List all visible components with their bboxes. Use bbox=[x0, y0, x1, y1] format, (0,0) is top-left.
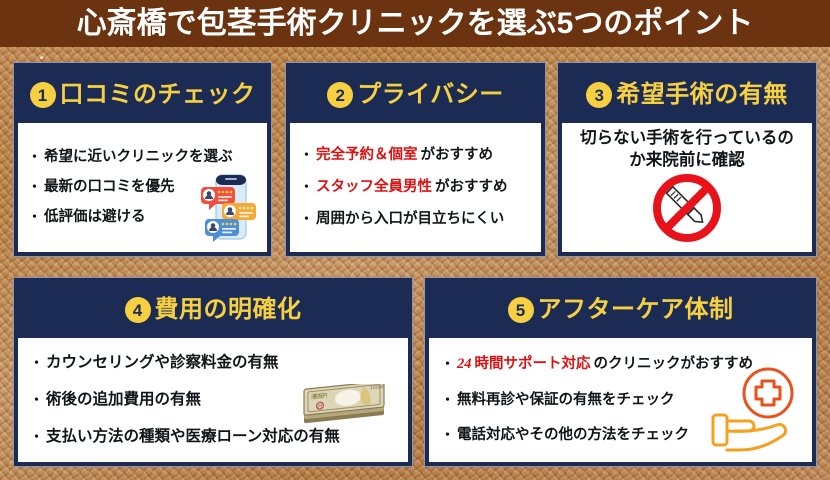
card-5-bullet-list: ・24時間サポート対応のクリニックがおすすめ ・無料再診や保証の有無をチェック … bbox=[429, 338, 812, 462]
bullet-marker: ・ bbox=[300, 180, 313, 193]
bullet-text: 周囲から入口が目立ちにくい bbox=[316, 211, 504, 228]
header-bar: 心斎橋で包茎手術クリニックを選ぶ5つのポイント bbox=[0, 0, 830, 47]
point-card-2: 2 プライバシー ・完全予約＆個室がおすすめ ・スタッフ全員男性がおすすめ ・周… bbox=[285, 62, 546, 257]
card-3-paragraph: 切らない手術を行っているのか来院前に確認 bbox=[562, 123, 812, 172]
bullet-text: 術後の追加費用の有無 bbox=[46, 391, 201, 409]
bullet-text: がおすすめ bbox=[435, 179, 508, 196]
list-item: ・スタッフ全員男性がおすすめ bbox=[300, 179, 541, 196]
card-4-body: ・カウンセリングや診察料金の有無 ・術後の追加費用の有無 ・支払い方法の種類や医… bbox=[18, 338, 408, 462]
list-item: ・術後の追加費用の有無 bbox=[30, 391, 408, 409]
bullet-marker: ・ bbox=[30, 393, 43, 406]
point-card-5: 5 アフターケア体制 ・24時間サポート対応のクリニックがおすすめ ・無料再診や… bbox=[424, 277, 817, 467]
card-5-header: 5 アフターケア体制 bbox=[429, 282, 812, 338]
card-4-header: 4 費用の明確化 bbox=[18, 282, 408, 338]
bullet-text: がおすすめ bbox=[421, 147, 494, 164]
list-item: ・支払い方法の種類や医療ローン対応の有無 bbox=[30, 428, 408, 446]
card-1-number-badge: 1 bbox=[30, 82, 56, 108]
list-item: ・完全予約＆個室がおすすめ bbox=[300, 147, 541, 164]
card-2-body: ・完全予約＆個室がおすすめ ・スタッフ全員男性がおすすめ ・周囲から入口が目立ち… bbox=[290, 123, 541, 252]
bullet-marker: ・ bbox=[30, 356, 43, 369]
point-card-3: 3 希望手術の有無 切らない手術を行っているのか来院前に確認 bbox=[557, 62, 817, 257]
bullet-marker: ・ bbox=[441, 393, 454, 406]
bullet-text-highlight: スタッフ全員男性 bbox=[316, 179, 432, 196]
bullet-text: 支払い方法の種類や医療ローン対応の有無 bbox=[46, 428, 340, 446]
card-5-title: アフターケア体制 bbox=[538, 298, 734, 322]
list-item: ・24時間サポート対応のクリニックがおすすめ bbox=[441, 356, 812, 373]
card-2-bullet-list: ・完全予約＆個室がおすすめ ・スタッフ全員男性がおすすめ ・周囲から入口が目立ち… bbox=[290, 123, 541, 252]
bullet-text-highlight-number: 24 bbox=[457, 356, 472, 373]
list-item: ・最新の口コミを優先 bbox=[28, 179, 267, 196]
bullet-marker: ・ bbox=[30, 430, 43, 443]
card-5-number-badge: 5 bbox=[508, 297, 534, 323]
card-3-number-badge: 3 bbox=[586, 82, 612, 108]
list-item: ・電話対応やその他の方法をチェック bbox=[441, 427, 812, 444]
bullet-text: 無料再診や保証の有無をチェック bbox=[457, 392, 675, 409]
card-4-title: 費用の明確化 bbox=[155, 298, 302, 322]
card-2-header: 2 プライバシー bbox=[290, 67, 541, 123]
bullet-marker: ・ bbox=[441, 357, 454, 370]
card-1-body: ・希望に近いクリニックを選ぶ ・最新の口コミを優先 ・低評価は避ける bbox=[18, 123, 267, 252]
card-3-title: 希望手術の有無 bbox=[616, 83, 788, 107]
infographic-poster: 心斎橋で包茎手術クリニックを選ぶ5つのポイント 1 口コミのチェック ・希望に近… bbox=[0, 0, 830, 480]
list-item: ・希望に近いクリニックを選ぶ bbox=[28, 149, 267, 166]
card-4-bullet-list: ・カウンセリングや診察料金の有無 ・術後の追加費用の有無 ・支払い方法の種類や医… bbox=[18, 338, 408, 462]
point-card-1: 1 口コミのチェック ・希望に近いクリニックを選ぶ ・最新の口コミを優先 ・低評… bbox=[13, 62, 272, 257]
no-scalpel-icon bbox=[650, 171, 724, 250]
bullet-text: 最新の口コミを優先 bbox=[44, 179, 175, 196]
bullet-text-highlight: 完全予約＆個室 bbox=[316, 147, 418, 164]
bullet-marker: ・ bbox=[28, 150, 41, 163]
card-4-number-badge: 4 bbox=[125, 297, 151, 323]
bullet-text-highlight: 時間サポート対応 bbox=[475, 356, 591, 373]
bullet-text: 希望に近いクリニックを選ぶ bbox=[44, 149, 233, 166]
bullet-marker: ・ bbox=[441, 428, 454, 441]
bullet-text: のクリニックがおすすめ bbox=[594, 356, 754, 373]
card-2-number-badge: 2 bbox=[327, 82, 353, 108]
bullet-marker: ・ bbox=[28, 180, 41, 193]
card-1-header: 1 口コミのチェック bbox=[18, 67, 267, 123]
card-3-header: 3 希望手術の有無 bbox=[562, 67, 812, 123]
bullet-text: 電話対応やその他の方法をチェック bbox=[457, 427, 689, 444]
list-item: ・無料再診や保証の有無をチェック bbox=[441, 392, 812, 409]
list-item: ・カウンセリングや診察料金の有無 bbox=[30, 354, 408, 372]
card-3-body: 切らない手術を行っているのか来院前に確認 bbox=[562, 123, 812, 252]
bullet-text: カウンセリングや診察料金の有無 bbox=[46, 354, 279, 372]
point-card-4: 4 費用の明確化 ・カウンセリングや診察料金の有無 ・術後の追加費用の有無 ・支… bbox=[13, 277, 413, 467]
card-1-bullet-list: ・希望に近いクリニックを選ぶ ・最新の口コミを優先 ・低評価は避ける bbox=[18, 123, 267, 252]
list-item: ・周囲から入口が目立ちにくい bbox=[300, 211, 541, 228]
page-title: 心斎橋で包茎手術クリニックを選ぶ5つのポイント bbox=[77, 9, 754, 39]
card-2-title: プライバシー bbox=[357, 83, 504, 107]
bullet-marker: ・ bbox=[28, 210, 41, 223]
bullet-marker: ・ bbox=[300, 212, 313, 225]
list-item: ・低評価は避ける bbox=[28, 209, 267, 226]
card-5-body: ・24時間サポート対応のクリニックがおすすめ ・無料再診や保証の有無をチェック … bbox=[429, 338, 812, 462]
bullet-marker: ・ bbox=[300, 148, 313, 161]
bullet-text: 低評価は避ける bbox=[44, 209, 146, 226]
card-1-title: 口コミのチェック bbox=[60, 83, 256, 107]
